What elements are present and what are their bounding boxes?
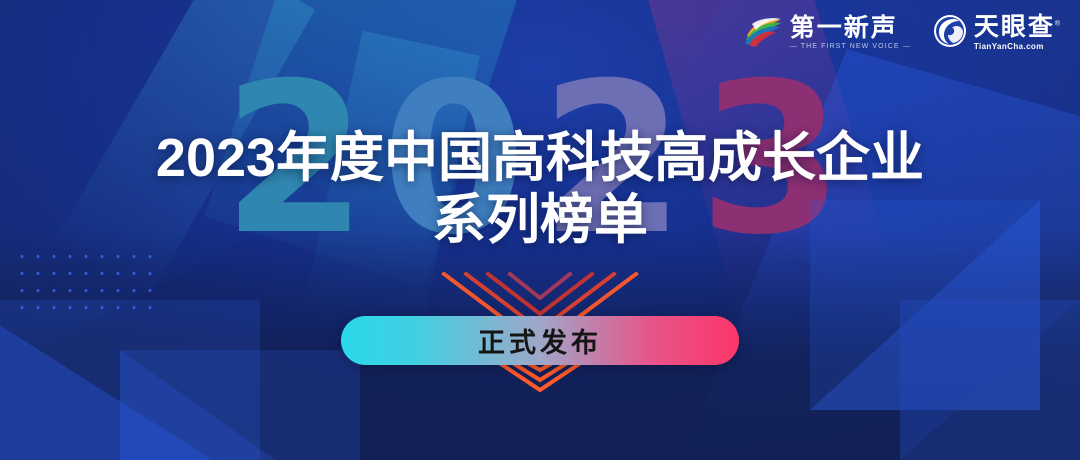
trademark-icon: ® (1055, 21, 1062, 28)
logo-bar: 第一新声 — THE FIRST NEW VOICE — 天眼查® TianYa… (743, 14, 1062, 53)
logo-tianyancha[interactable]: 天眼查® TianYanCha.com (933, 14, 1062, 53)
logo-first-new-voice-name: 第一新声 (790, 16, 911, 42)
dot-grid-decoration (14, 248, 162, 312)
title-line-1: 2023年度中国高科技高成长企业 (0, 128, 1080, 188)
swoosh-ribbon-logo-icon (743, 14, 783, 53)
logo-tianyancha-name: 天眼查® (974, 15, 1062, 41)
publish-button[interactable]: 正式发布 (341, 316, 739, 365)
title-line-2: 系列榜单 (0, 190, 1080, 250)
logo-first-new-voice-text: 第一新声 — THE FIRST NEW VOICE — (790, 16, 911, 52)
logo-tianyancha-name-cn: 天眼查 (974, 13, 1055, 41)
cta-container: 正式发布 (0, 316, 1080, 365)
promo-banner: 2023 (0, 0, 1080, 460)
logo-first-new-voice[interactable]: 第一新声 — THE FIRST NEW VOICE — (743, 14, 911, 53)
page-title: 2023年度中国高科技高成长企业 系列榜单 (0, 128, 1080, 251)
logo-first-new-voice-tagline: — THE FIRST NEW VOICE — (790, 43, 911, 51)
logo-tianyancha-text: 天眼查® TianYanCha.com (974, 15, 1062, 51)
logo-tianyancha-domain: TianYanCha.com (974, 42, 1062, 52)
camera-aperture-logo-icon (933, 14, 967, 53)
bg-shape-bottom-left-triangle-2 (120, 350, 360, 460)
